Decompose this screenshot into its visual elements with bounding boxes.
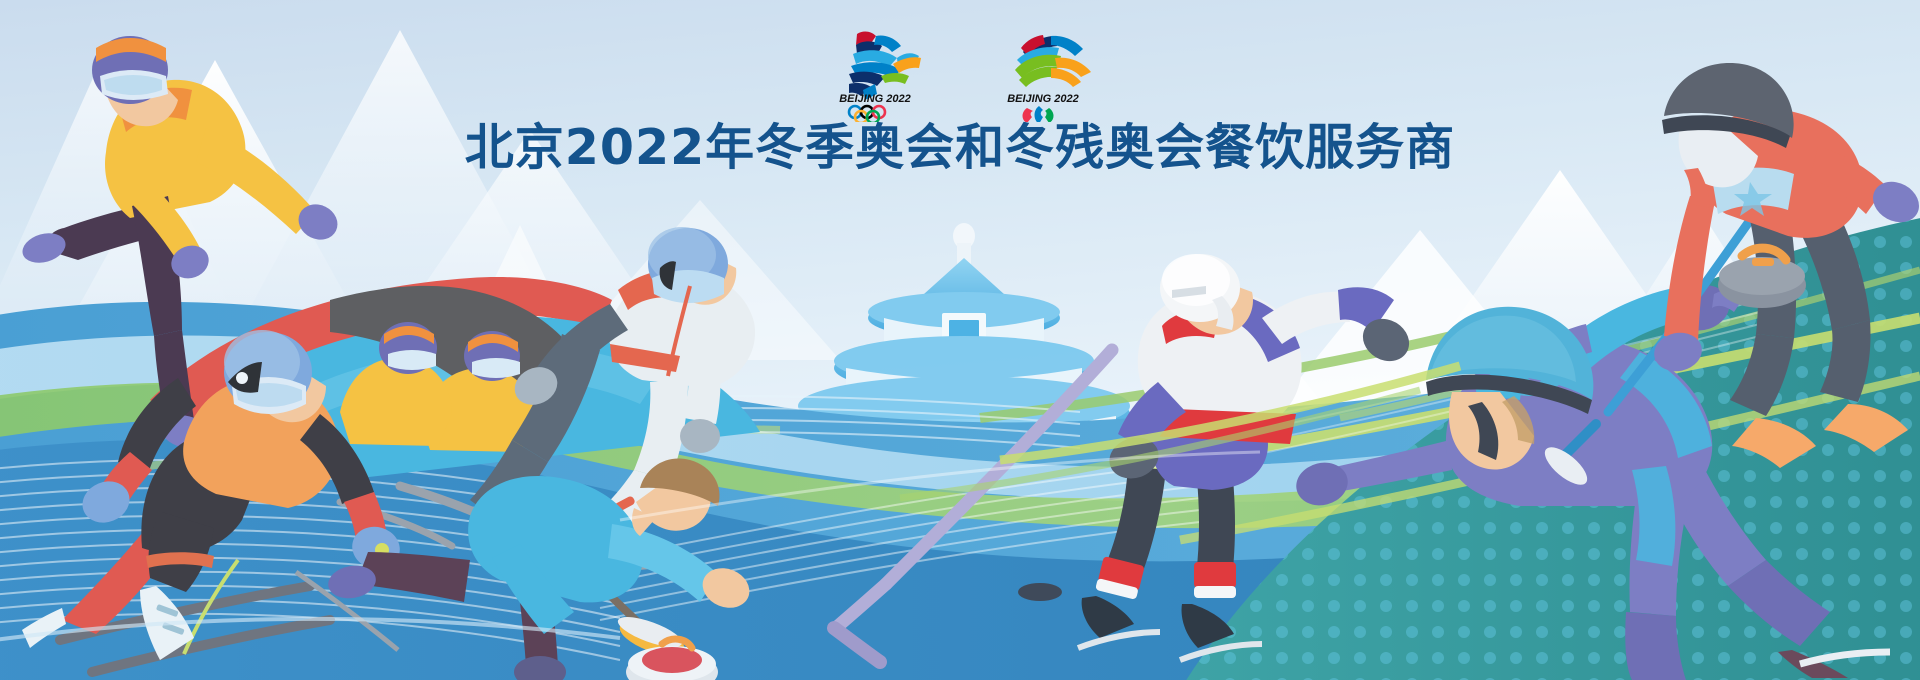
page-title: 北京2022年冬季奥会和冬残奥会餐饮服务商 <box>0 122 1920 173</box>
olympic-banner: BEIJING 2022 <box>0 0 1920 680</box>
foreground-ribbon-accents <box>0 0 1920 680</box>
